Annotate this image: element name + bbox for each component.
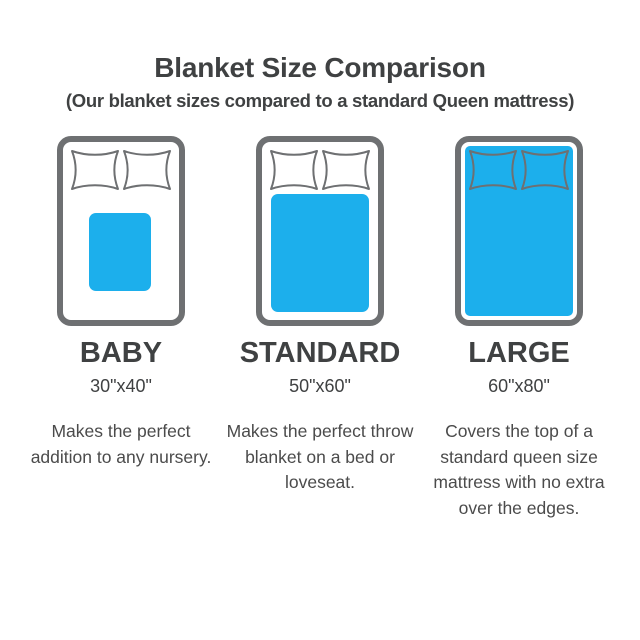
- size-column-large: LARGE 60"x80" Covers the top of a standa…: [426, 133, 612, 521]
- blanket-area: [465, 146, 573, 316]
- pillow-right-icon: [323, 151, 369, 189]
- size-name-large: LARGE: [468, 339, 570, 368]
- pillow-left-icon: [72, 151, 118, 189]
- size-name-standard: STANDARD: [240, 339, 401, 368]
- blanket-area: [89, 213, 151, 291]
- bed-top-view-icon: [56, 133, 186, 329]
- size-dimensions-standard: 50"x60": [289, 377, 351, 395]
- bed-diagram-baby: [28, 133, 214, 329]
- pillow-left-icon: [271, 151, 317, 189]
- bed-diagram-standard: [227, 133, 413, 329]
- size-column-standard: STANDARD 50"x60" Makes the perfect throw…: [227, 133, 413, 521]
- size-description-standard: Makes the perfect throw blanket on a bed…: [225, 419, 415, 495]
- bed-top-view-icon: [454, 133, 584, 329]
- size-comparison-columns: BABY 30"x40" Makes the perfect addition …: [0, 133, 640, 521]
- size-column-baby: BABY 30"x40" Makes the perfect addition …: [28, 133, 214, 521]
- page-title: Blanket Size Comparison: [0, 52, 640, 84]
- size-description-large: Covers the top of a standard queen size …: [424, 419, 614, 521]
- page-header: Blanket Size Comparison (Our blanket siz…: [0, 0, 640, 111]
- blanket-area: [271, 194, 369, 312]
- bed-top-view-icon: [255, 133, 385, 329]
- pillow-right-icon: [124, 151, 170, 189]
- size-dimensions-baby: 30"x40": [90, 377, 152, 395]
- size-name-baby: BABY: [80, 339, 162, 368]
- page-subtitle: (Our blanket sizes compared to a standar…: [0, 90, 640, 111]
- size-dimensions-large: 60"x80": [488, 377, 550, 395]
- size-description-baby: Makes the perfect addition to any nurser…: [26, 419, 216, 470]
- bed-diagram-large: [426, 133, 612, 329]
